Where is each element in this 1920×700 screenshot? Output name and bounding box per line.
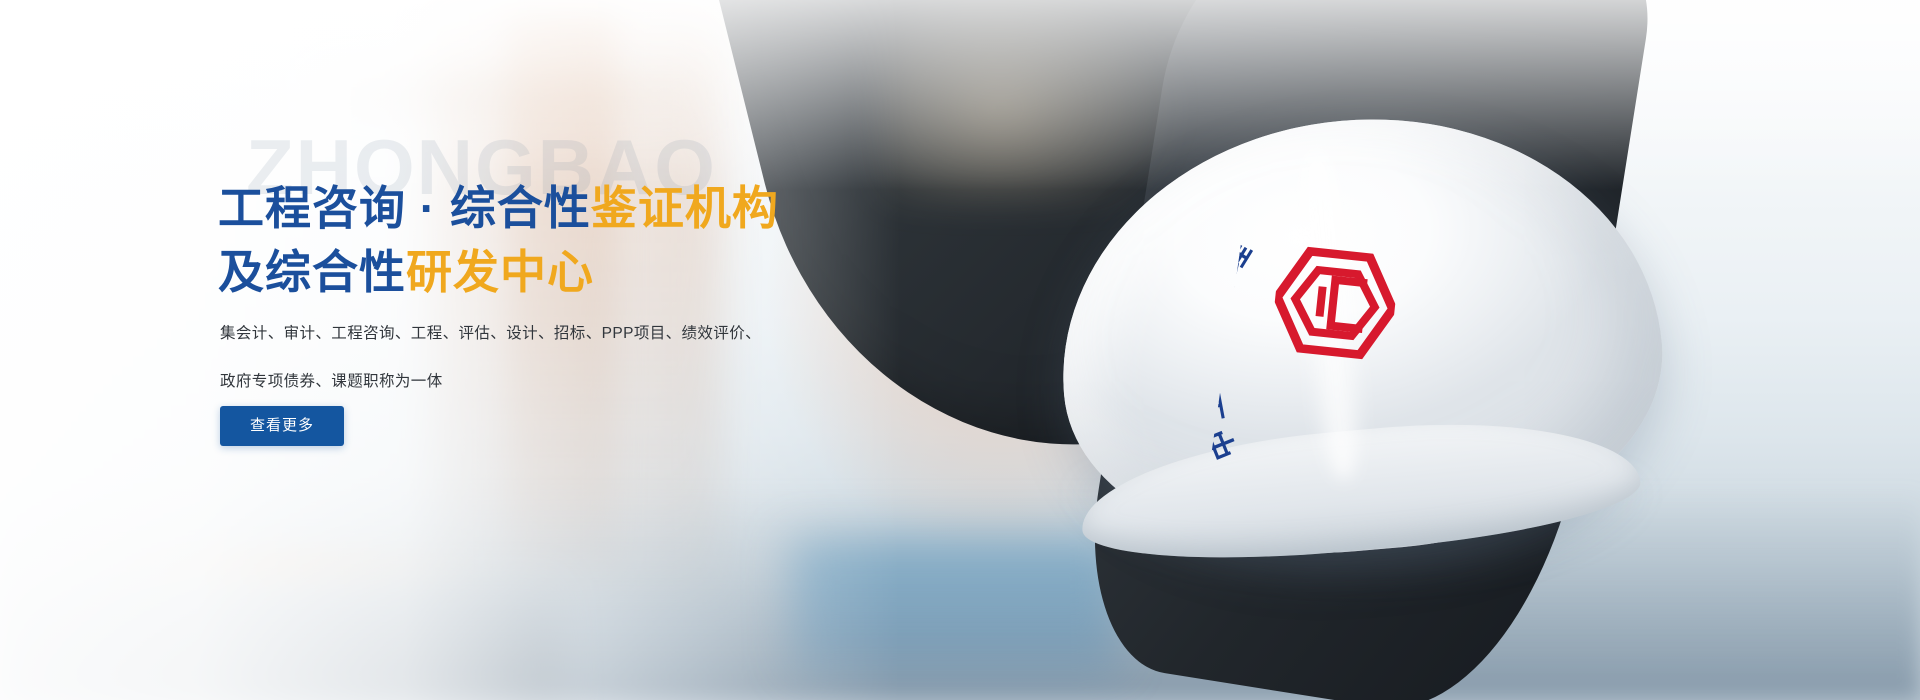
headline-line-1-primary: 工程咨询 · 综合性 xyxy=(218,182,591,234)
headline-line-2-accent: 研发中心 xyxy=(406,246,594,298)
headline-line-1-accent: 鉴证机构 xyxy=(591,182,779,234)
description-line-2: 政府专项债券、课题职称为一体 xyxy=(220,358,820,406)
hero-banner: 中宝工程管理 ZHONGBAO 工程咨询 · 综合性鉴证机构 及综合性研发中心 … xyxy=(0,0,1920,700)
hexagon-emblem-icon xyxy=(1270,244,1400,362)
description-line-1: 集会计、审计、工程咨询、工程、评估、设计、招标、PPP项目、绩效评价、 xyxy=(220,310,820,358)
view-more-button[interactable]: 查看更多 xyxy=(220,406,344,446)
hero-headline: 工程咨询 · 综合性鉴证机构 及综合性研发中心 xyxy=(218,176,938,304)
headline-line-1: 工程咨询 · 综合性鉴证机构 xyxy=(218,176,938,240)
headline-line-2-primary: 及综合性 xyxy=(218,246,406,298)
hero-description: 集会计、审计、工程咨询、工程、评估、设计、招标、PPP项目、绩效评价、 政府专项… xyxy=(220,310,820,406)
headline-line-2: 及综合性研发中心 xyxy=(218,240,938,304)
hero-content: ZHONGBAO 工程咨询 · 综合性鉴证机构 及综合性研发中心 集会计、审计、… xyxy=(218,0,978,700)
